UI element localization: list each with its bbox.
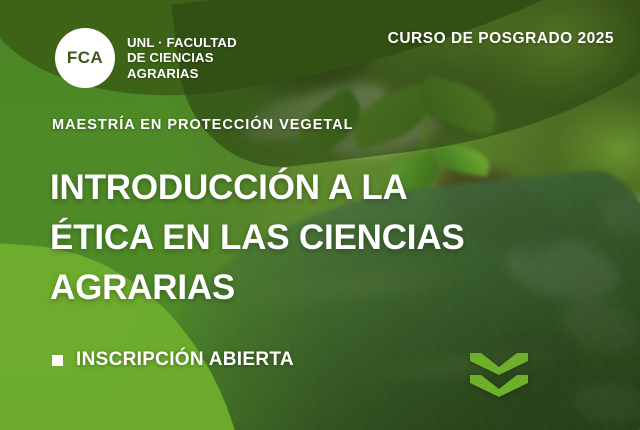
enrollment-status: INSCRIPCIÓN ABIERTA xyxy=(52,349,294,371)
program-name: MAESTRÍA EN PROTECCIÓN VEGETAL xyxy=(52,117,354,133)
institution-line-1: UNL · FACULTAD xyxy=(127,35,237,51)
institution-name: UNL · FACULTAD DE CIENCIAS AGRARIAS xyxy=(127,35,237,82)
course-title-line: AGRARIAS xyxy=(50,263,490,313)
course-title-line: ÉTICA EN LAS CIENCIAS xyxy=(50,213,490,263)
scroll-down-indicator[interactable] xyxy=(470,353,530,399)
square-bullet-icon xyxy=(52,355,63,366)
chevron-down-icon[interactable] xyxy=(470,353,528,375)
institution-line-2: DE CIENCIAS xyxy=(127,50,237,66)
fca-logo-text: FCA xyxy=(67,48,103,68)
chevron-down-icon[interactable] xyxy=(470,375,528,397)
course-title-line: INTRODUCCIÓN A LA xyxy=(50,163,490,213)
fca-logo-mark: FCA xyxy=(55,28,115,88)
course-kicker: CURSO DE POSGRADO 2025 xyxy=(388,30,614,48)
institution-line-3: AGRARIAS xyxy=(127,66,237,82)
status-badge: INSCRIPCIÓN ABIERTA xyxy=(76,349,294,371)
course-title: INTRODUCCIÓN A LA ÉTICA EN LAS CIENCIAS … xyxy=(50,163,490,313)
course-promo-banner: FCA UNL · FACULTAD DE CIENCIAS AGRARIAS … xyxy=(0,0,640,430)
banner-content: FCA UNL · FACULTAD DE CIENCIAS AGRARIAS … xyxy=(0,0,640,430)
institution-logo-lockup[interactable]: FCA UNL · FACULTAD DE CIENCIAS AGRARIAS xyxy=(55,28,237,88)
